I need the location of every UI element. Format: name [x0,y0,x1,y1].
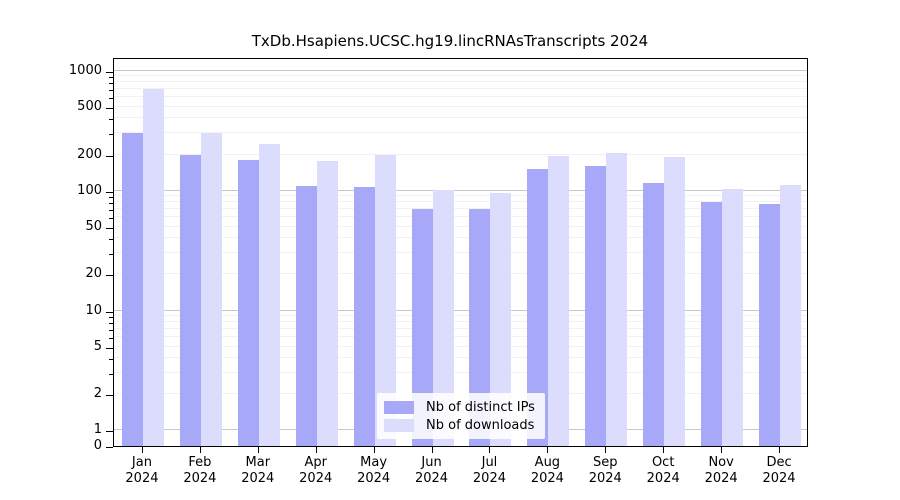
x-axis-label-year: 2024 [459,471,519,487]
y-axis-tick-label: 20 [85,266,102,281]
x-axis-label-month: Aug [517,455,577,471]
x-axis-label-year: 2024 [691,471,751,487]
bar-distinct-ips[interactable] [643,183,664,446]
legend-label: Nb of distinct IPs [426,400,535,415]
bar-downloads[interactable] [606,153,627,446]
x-axis-label-month: Sep [575,455,635,471]
y-axis-tick-mark [106,192,113,193]
y-axis-tick-label: 5 [94,339,102,354]
x-axis-label-year: 2024 [112,471,172,487]
bar-group [412,59,454,446]
plot-area [113,58,808,447]
x-axis-label-year: 2024 [170,471,230,487]
x-axis-label-month: Feb [170,455,230,471]
x-axis-tick-mark [779,447,780,453]
x-axis-tick-mark [721,447,722,453]
bar-downloads[interactable] [548,156,569,446]
y-axis-tick-label: 1000 [69,63,102,78]
bar-distinct-ips[interactable] [701,202,722,446]
bar-distinct-ips[interactable] [296,186,317,446]
bar-downloads[interactable] [259,144,280,446]
bar-downloads[interactable] [780,185,801,446]
bar-downloads[interactable] [201,133,222,446]
bar-downloads[interactable] [664,157,685,446]
x-axis-label-month: Dec [749,455,809,471]
x-axis-label-year: 2024 [749,471,809,487]
legend-item[interactable]: Nb of distinct IPs [384,398,535,416]
bar-group [469,59,511,446]
bar-group [180,59,222,446]
chart-container: TxDb.Hsapiens.UCSC.hg19.lincRNAsTranscri… [0,0,900,500]
x-axis-label-month: Nov [691,455,751,471]
y-axis-tick-label: 10 [85,303,102,318]
bar-group [585,59,627,446]
y-axis-tick-mark [106,447,113,448]
bar-downloads[interactable] [317,161,338,446]
x-axis-label-year: 2024 [402,471,462,487]
chart-title: TxDb.Hsapiens.UCSC.hg19.lincRNAsTranscri… [0,32,900,50]
x-axis-tick-label: Nov2024 [691,455,751,487]
x-axis-label-year: 2024 [228,471,288,487]
bar-group [122,59,164,446]
y-axis-tick-label: 2 [94,386,102,401]
y-axis-tick-mark [106,431,113,432]
x-axis-label-month: Mar [228,455,288,471]
y-axis-tick-label: 50 [85,219,102,234]
x-axis-tick-mark [663,447,664,453]
x-axis-tick-label: Aug2024 [517,455,577,487]
x-axis-label-month: May [344,455,404,471]
x-axis-label-year: 2024 [517,471,577,487]
x-axis-tick-mark [547,447,548,453]
bar-group [354,59,396,446]
x-axis-label-month: Jan [112,455,172,471]
y-axis-tick-label: 200 [77,147,102,162]
x-axis-tick-label: Dec2024 [749,455,809,487]
x-axis-tick-mark [432,447,433,453]
y-axis-tick-label: 0 [94,438,102,453]
x-axis-tick-mark [489,447,490,453]
x-axis-tick-label: May2024 [344,455,404,487]
x-axis-tick-label: Jul2024 [459,455,519,487]
y-axis: 10005002001005020105210 [0,58,113,447]
bar-group [701,59,743,446]
bar-distinct-ips[interactable] [122,133,143,446]
bar-group [296,59,338,446]
x-axis-tick-label: Sep2024 [575,455,635,487]
x-axis-label-month: Apr [286,455,346,471]
x-axis-tick-label: Feb2024 [170,455,230,487]
bar-distinct-ips[interactable] [238,160,259,446]
x-axis-label-month: Jul [459,455,519,471]
bar-downloads[interactable] [722,189,743,446]
x-axis-tick-label: Oct2024 [633,455,693,487]
x-axis-label-year: 2024 [575,471,635,487]
bar-group [643,59,685,446]
bar-distinct-ips[interactable] [354,187,375,446]
x-axis-label-month: Oct [633,455,693,471]
y-axis-tick-mark [106,312,113,313]
x-axis: Jan2024Feb2024Mar2024Apr2024May2024Jun20… [113,447,808,497]
x-axis-tick-mark [142,447,143,453]
x-axis-label-month: Jun [402,455,462,471]
x-axis-label-year: 2024 [344,471,404,487]
y-axis-tick-label: 500 [77,99,102,114]
x-axis-tick-mark [605,447,606,453]
x-axis-tick-mark [374,447,375,453]
bar-group [759,59,801,446]
x-axis-tick-mark [200,447,201,453]
bars-layer [114,59,807,446]
legend-label: Nb of downloads [426,418,534,433]
x-axis-tick-label: Mar2024 [228,455,288,487]
x-axis-label-year: 2024 [633,471,693,487]
x-axis-tick-label: Jan2024 [112,455,172,487]
x-axis-tick-label: Jun2024 [402,455,462,487]
bar-distinct-ips[interactable] [585,166,606,446]
bar-distinct-ips[interactable] [759,204,780,446]
y-axis-tick-mark [106,72,113,73]
legend-swatch-icon [384,401,414,414]
x-axis-label-year: 2024 [286,471,346,487]
chart-legend: Nb of distinct IPsNb of downloads [377,393,545,439]
x-axis-tick-mark [316,447,317,453]
legend-swatch-icon [384,419,414,432]
bar-distinct-ips[interactable] [180,155,201,446]
bar-group [527,59,569,446]
legend-item[interactable]: Nb of downloads [384,416,535,434]
x-axis-tick-mark [258,447,259,453]
bar-downloads[interactable] [143,89,164,446]
y-axis-tick-label: 1 [94,422,102,437]
y-axis-tick-label: 100 [77,183,102,198]
x-axis-tick-label: Apr2024 [286,455,346,487]
bar-group [238,59,280,446]
